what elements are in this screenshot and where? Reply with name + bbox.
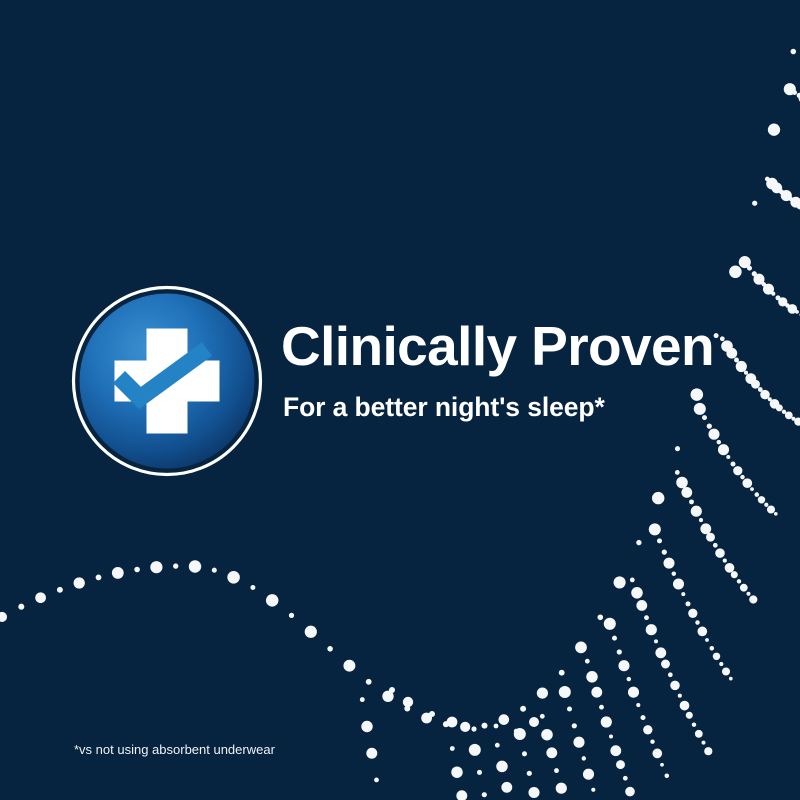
clinically-proven-badge: [71, 285, 263, 477]
disclaimer-footnote: *vs not using absorbent underwear: [74, 741, 275, 758]
page-title: Clinically Proven: [281, 318, 714, 375]
promo-graphic: Clinically Proven For a better night's s…: [0, 0, 800, 800]
page-subtitle: For a better night's sleep*: [283, 392, 605, 422]
